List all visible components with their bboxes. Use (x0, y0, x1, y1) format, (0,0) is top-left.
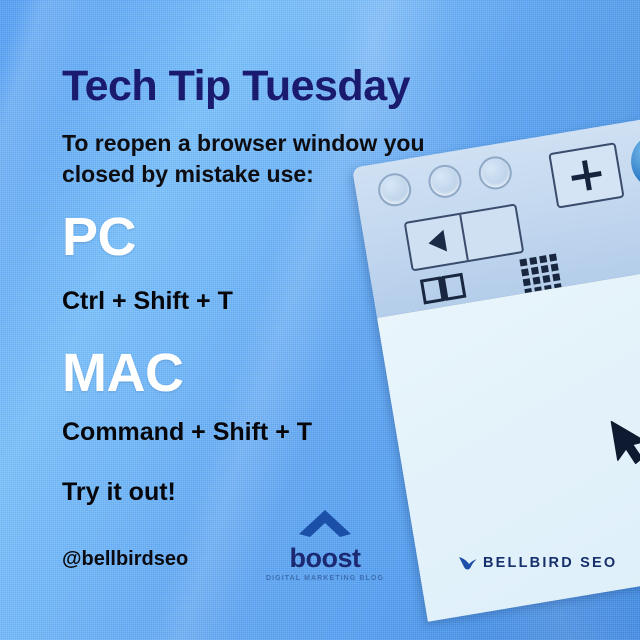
add-tab-plus-icon (571, 170, 601, 180)
bookmarks-book-icon[interactable] (419, 271, 467, 306)
forward-button[interactable] (459, 206, 522, 261)
back-button[interactable] (406, 215, 467, 269)
bellbird-logo: BELLBIRD SEO (458, 555, 617, 571)
platform-label-mac: MAC (62, 342, 183, 404)
add-tab-button[interactable] (548, 142, 624, 208)
globe-circle-icon[interactable] (627, 129, 640, 193)
call-to-action-text: Try it out! (62, 478, 176, 507)
window-zoom-circle-icon[interactable] (476, 154, 514, 192)
boost-logo-word: boost (265, 545, 385, 572)
subtitle-text: To reopen a browser window you closed by… (62, 128, 462, 190)
add-tab-plus-icon-vertical (581, 160, 591, 190)
social-handle: @bellbirdseo (62, 548, 188, 571)
boost-logo: boost DIGITAL MARKETING BLOG (265, 508, 385, 582)
navigation-button-group (404, 203, 525, 271)
forward-arrow-icon (490, 222, 494, 244)
shortcut-mac: Command + Shift + T (62, 418, 312, 447)
social-media-poster: My P Tech Tip Tuesday To reopen a browse… (0, 0, 640, 640)
bird-icon (458, 555, 478, 571)
page-title: Tech Tip Tuesday (62, 62, 410, 111)
grid-view-icon[interactable] (519, 254, 562, 297)
shortcut-pc: Ctrl + Shift + T (62, 287, 233, 316)
platform-label-pc: PC (62, 206, 136, 268)
chevron-up-icon (297, 508, 353, 538)
bellbird-logo-word: BELLBIRD SEO (483, 555, 617, 571)
boost-logo-tagline: DIGITAL MARKETING BLOG (265, 575, 385, 582)
back-arrow-icon (426, 230, 446, 255)
mouse-cursor-icon (609, 414, 640, 472)
